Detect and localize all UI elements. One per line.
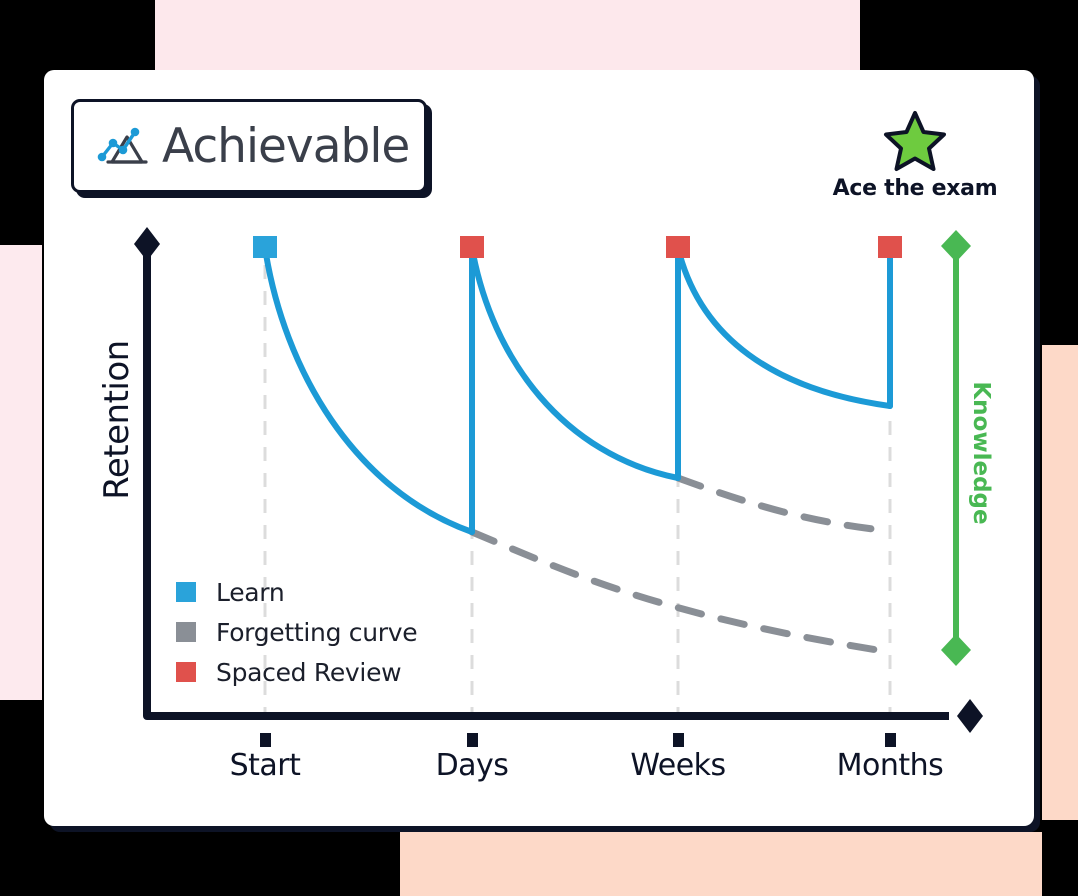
legend-item-spaced-review[interactable]: Spaced Review	[176, 652, 417, 692]
knowledge-bracket	[941, 230, 971, 666]
left-pink-block	[0, 245, 42, 700]
knowledge-bracket-label: Knowledge	[968, 358, 994, 548]
x-tick-label-weeks: Weeks	[588, 748, 768, 783]
x-tick-label-months: Months	[800, 748, 980, 783]
bottom-peach-block	[400, 832, 1042, 896]
legend-item-learn[interactable]: Learn	[176, 572, 417, 612]
spaced-review-marker[interactable]	[666, 236, 690, 258]
legend-label-spaced-review: Spaced Review	[216, 658, 401, 687]
x-axis-ticks	[260, 733, 896, 747]
top-pink-block	[155, 0, 860, 70]
legend-label-forgetting-curve: Forgetting curve	[216, 618, 417, 647]
retention-curve-path	[265, 248, 890, 532]
retention-chart: Retention Knowledge Start Days Weeks Mon…	[44, 70, 1034, 826]
y-axis-title: Retention	[97, 320, 137, 520]
legend-item-forgetting-curve[interactable]: Forgetting curve	[176, 612, 417, 652]
learn-marker[interactable]	[253, 236, 277, 258]
spaced-review-marker[interactable]	[878, 236, 902, 258]
chart-svg	[44, 70, 1034, 826]
spaced-review-marker[interactable]	[460, 236, 484, 258]
chart-card: Achievable Ace the exam	[44, 70, 1034, 826]
legend-swatch-spaced-review-icon	[176, 662, 196, 682]
legend-swatch-learn-icon	[176, 582, 196, 602]
y-axis-arrow	[134, 227, 160, 261]
legend-label-learn: Learn	[216, 578, 284, 607]
right-peach-block	[1042, 345, 1078, 820]
x-axis-arrow	[957, 699, 983, 733]
forgetting-curve-paths	[472, 478, 890, 652]
chart-legend: Learn Forgetting curve Spaced Review	[176, 572, 417, 692]
x-tick-label-days: Days	[382, 748, 562, 783]
x-tick-label-start: Start	[175, 748, 355, 783]
legend-swatch-forgetting-curve-icon	[176, 622, 196, 642]
